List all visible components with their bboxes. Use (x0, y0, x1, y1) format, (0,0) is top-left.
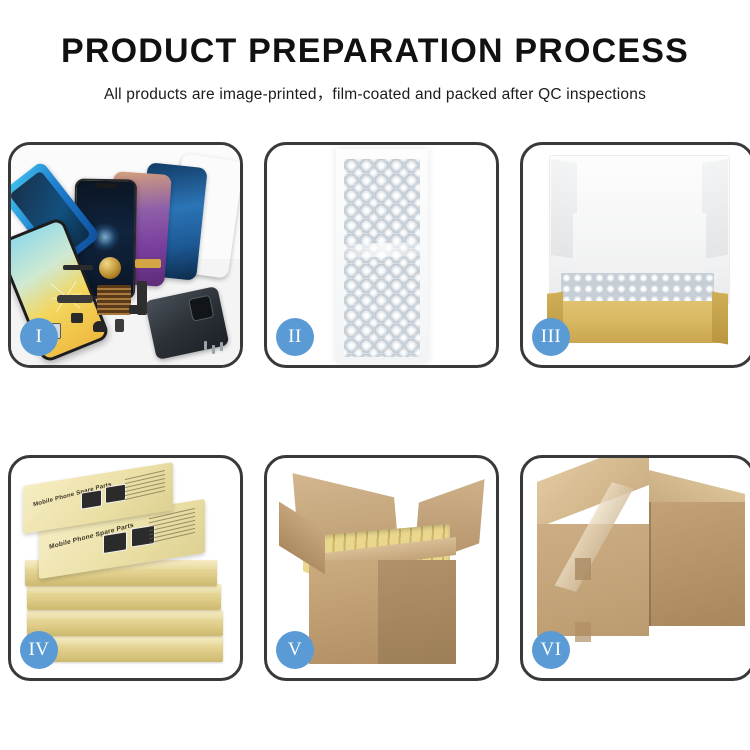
page-title: PRODUCT PREPARATION PROCESS (0, 34, 750, 70)
box-spec-lines-back (125, 471, 165, 501)
box-screen-thumb-1 (103, 531, 127, 554)
small-part-1-icon (71, 313, 83, 323)
product-preparation-infographic: PRODUCT PREPARATION PROCESS All products… (0, 0, 750, 750)
process-steps-grid: I II (8, 142, 742, 681)
carton-handle-cut-2 (575, 622, 591, 642)
box-tray-icon (547, 293, 728, 343)
bubble-wrapped-contents-icon (561, 273, 714, 301)
process-step-panel-2: II (264, 142, 499, 368)
carton-side-face-sealed (649, 502, 745, 626)
process-step-panel-5: V (264, 455, 499, 681)
step-badge-6: VI (532, 631, 570, 669)
flex-cable-2-icon (57, 295, 93, 303)
step-badge-4: IV (20, 631, 58, 669)
box-spec-lines-front (149, 509, 195, 544)
carton-body (309, 560, 456, 664)
header: PRODUCT PREPARATION PROCESS All products… (0, 0, 750, 104)
carton-corner-seam (649, 502, 651, 626)
flex-cable-1-icon (63, 265, 93, 270)
speaker-coil-icon (99, 257, 121, 279)
wrap-highlight (335, 242, 427, 258)
bubble-texture-icon (344, 159, 420, 357)
tray-lip-right (712, 291, 728, 344)
inner-box-open (541, 153, 738, 349)
box-screen-thumb-3 (81, 489, 102, 509)
small-part-5-icon (129, 305, 143, 314)
flex-cable-3-icon (135, 259, 161, 268)
page-subtitle: All products are image-printed，film-coat… (0, 82, 750, 104)
process-step-panel-3: III (520, 142, 750, 368)
small-part-2-icon (93, 321, 106, 332)
carton-side-face (378, 560, 456, 664)
process-step-panel-4: Mobile Phone Spare Parts Mobile Phone Sp… (8, 455, 243, 681)
stacked-box-4 (27, 610, 223, 636)
ic-chip-icon (97, 285, 131, 315)
screws-icon (204, 341, 230, 359)
stacked-box-3 (27, 584, 221, 610)
carton-handle-cut-1 (575, 558, 591, 580)
step-badge-3: III (532, 318, 570, 356)
step-badge-1: I (20, 318, 58, 356)
box-screen-thumb-4 (105, 484, 126, 504)
step-badge-5: V (276, 631, 314, 669)
process-step-panel-6: VI (520, 455, 750, 681)
process-step-panel-1: I (8, 142, 243, 368)
small-part-3-icon (115, 319, 124, 332)
bubble-wrap-package (336, 149, 428, 363)
step-badge-2: II (276, 318, 314, 356)
